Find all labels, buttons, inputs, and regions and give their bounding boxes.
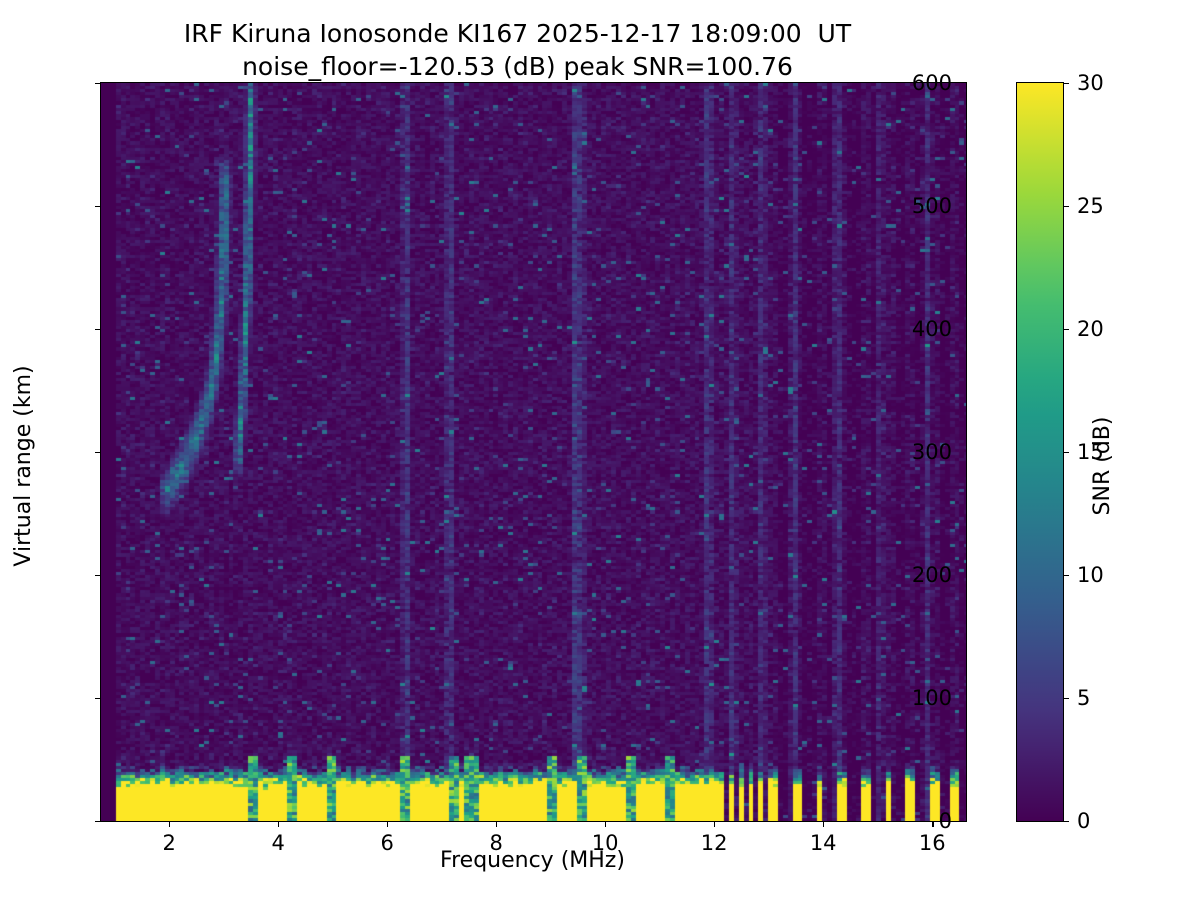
x-tick-mark [278, 821, 279, 827]
figure-title: IRF Kiruna Ionosonde KI167 2025-12-17 18… [0, 18, 1035, 83]
x-axis-label: Frequency (MHz) [100, 848, 965, 873]
colorbar-tick-mark [1063, 698, 1069, 699]
x-tick-mark [496, 821, 497, 827]
y-tick-mark [95, 329, 101, 330]
title-line-primary: IRF Kiruna Ionosonde KI167 2025-12-17 18… [0, 18, 1035, 51]
colorbar-tick-label: 5 [1077, 686, 1090, 710]
ionogram-heatmap [101, 83, 966, 821]
x-tick-mark [169, 821, 170, 827]
x-tick-mark [387, 821, 388, 827]
title-line-secondary: noise_floor=-120.53 (dB) peak SNR=100.76 [0, 51, 1035, 84]
y-tick-mark [95, 698, 101, 699]
x-tick-mark [932, 821, 933, 827]
colorbar-tick-mark [1063, 452, 1069, 453]
y-tick-label: 100 [912, 686, 952, 710]
colorbar-tick-mark [1063, 821, 1069, 822]
colorbar-tick-mark [1063, 83, 1069, 84]
colorbar-label: SNR (dB) [1090, 97, 1120, 835]
colorbar-gradient [1017, 83, 1063, 821]
y-tick-mark [95, 452, 101, 453]
y-tick-mark [95, 575, 101, 576]
ionogram-axes: 0100200300400500600246810121416 [100, 82, 967, 822]
x-tick-mark [714, 821, 715, 827]
colorbar: 051015202530 [1016, 82, 1064, 822]
colorbar-tick-mark [1063, 575, 1069, 576]
y-tick-label: 600 [912, 71, 952, 95]
y-tick-label: 300 [912, 440, 952, 464]
colorbar-tick-label: 0 [1077, 809, 1090, 833]
y-axis-label: Virtual range (km) [11, 97, 41, 835]
x-tick-mark [823, 821, 824, 827]
colorbar-tick-mark [1063, 206, 1069, 207]
colorbar-tick-mark [1063, 329, 1069, 330]
x-tick-mark [605, 821, 606, 827]
ionogram-figure: IRF Kiruna Ionosonde KI167 2025-12-17 18… [0, 0, 1200, 900]
colorbar-tick-label: 30 [1077, 71, 1104, 95]
y-tick-label: 200 [912, 563, 952, 587]
y-tick-label: 0 [939, 809, 952, 833]
y-tick-mark [95, 206, 101, 207]
y-tick-label: 500 [912, 194, 952, 218]
y-tick-mark [95, 83, 101, 84]
y-tick-label: 400 [912, 317, 952, 341]
y-tick-mark [95, 821, 101, 822]
